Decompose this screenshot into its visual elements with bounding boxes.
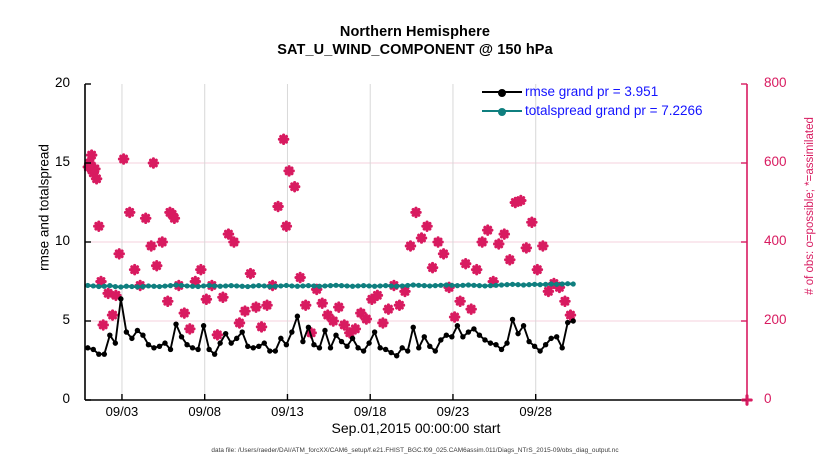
legend-item-totalspread[interactable]: totalspread grand pr = 7.2266	[482, 101, 703, 120]
y-tick-left-0: 0	[30, 391, 70, 406]
y-axis-left-label: rmse and totalspread	[37, 58, 52, 358]
gridlines	[85, 84, 747, 400]
obs-marker-series	[84, 135, 751, 404]
x-tick-09-08: 09/08	[170, 404, 240, 419]
x-tick-09-03: 09/03	[87, 404, 157, 419]
x-tick-09-28: 09/28	[501, 404, 571, 419]
plot-area	[0, 0, 830, 470]
data-file-footer: data file: /Users/raeder/DAI/ATM_forcXX/…	[0, 447, 830, 454]
legend-label-totalspread: totalspread grand pr = 7.2266	[525, 103, 703, 118]
legend-label-rmse: rmse grand pr = 3.951	[525, 84, 658, 99]
legend: rmse grand pr = 3.951 totalspread grand …	[482, 82, 703, 120]
x-tick-09-23: 09/23	[418, 404, 488, 419]
legend-line-totalspread	[482, 110, 522, 112]
y-axis-right-label: # of obs: o=possible; *=assimilated	[804, 56, 816, 356]
legend-item-rmse[interactable]: rmse grand pr = 3.951	[482, 82, 703, 101]
x-axis-label: Sep.01,2015 00:00:00 start	[85, 420, 747, 436]
rmse-series	[85, 296, 576, 358]
x-tick-09-18: 09/18	[335, 404, 405, 419]
x-tick-09-13: 09/13	[252, 404, 322, 419]
y-tick-right-0: 0	[764, 391, 812, 406]
figure-canvas: Northern Hemisphere SAT_U_WIND_COMPONENT…	[0, 0, 830, 470]
legend-line-rmse	[482, 91, 522, 93]
totalspread-series	[85, 281, 576, 290]
